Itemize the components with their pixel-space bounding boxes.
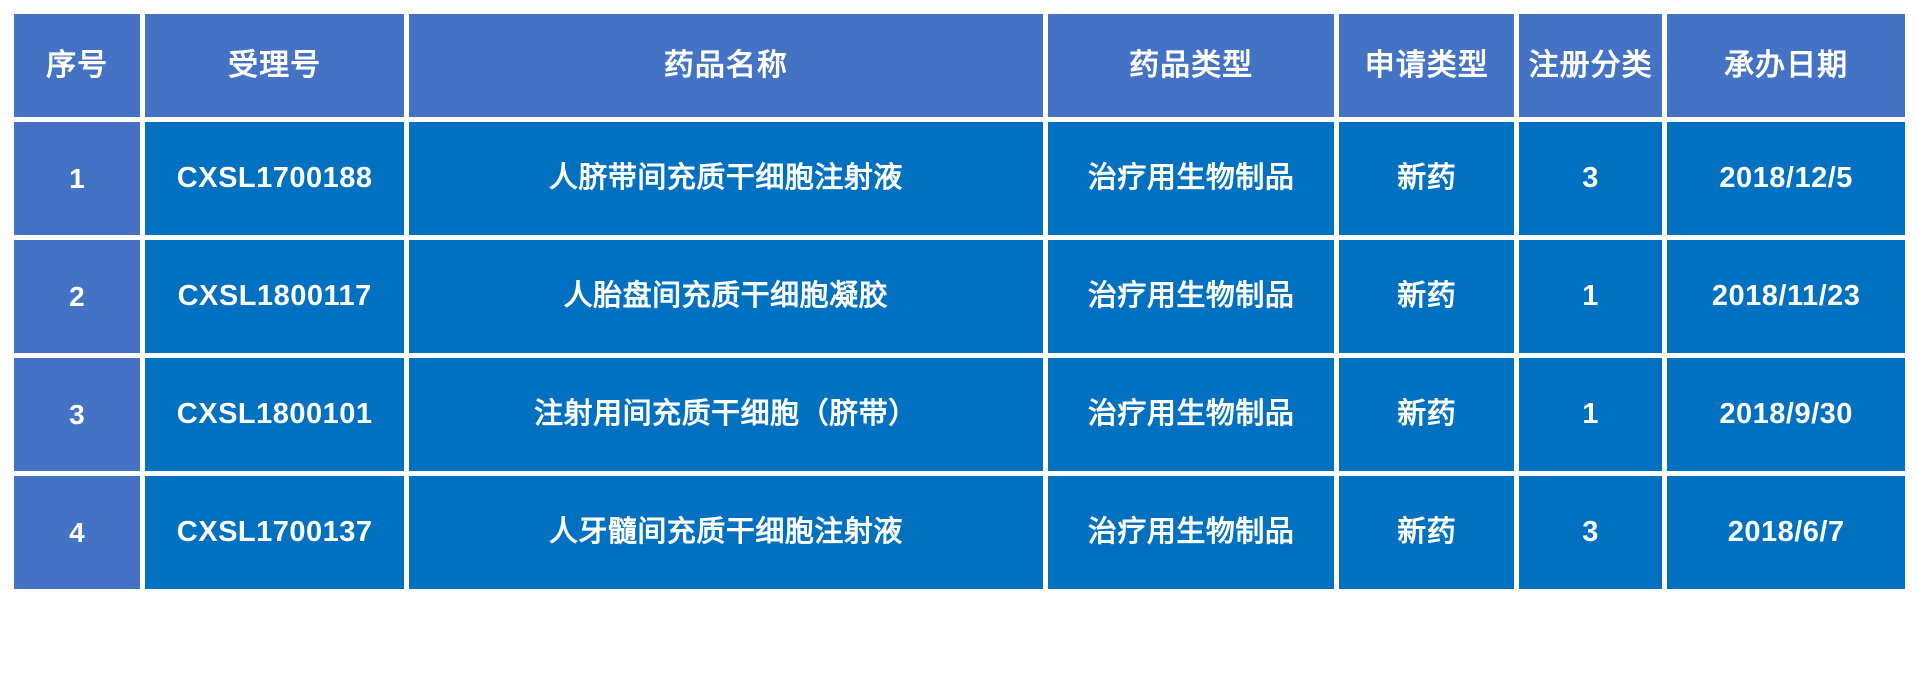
column-header-index: 序号 (14, 14, 140, 117)
column-header-name: 药品名称 (409, 14, 1043, 117)
column-header-type: 药品类型 (1048, 14, 1335, 117)
cell-code: CXSL1800117 (145, 240, 404, 353)
cell-code: CXSL1700137 (145, 476, 404, 589)
table-row: 1 CXSL1700188 人脐带间充质干细胞注射液 治疗用生物制品 新药 3 … (14, 122, 1905, 235)
cell-index: 1 (14, 122, 140, 235)
drug-registration-table: 序号 受理号 药品名称 药品类型 申请类型 注册分类 承办日期 1 CXSL17… (9, 9, 1910, 594)
column-header-apptype: 申请类型 (1339, 14, 1513, 117)
table-header-row: 序号 受理号 药品名称 药品类型 申请类型 注册分类 承办日期 (14, 14, 1905, 117)
cell-name: 人胎盘间充质干细胞凝胶 (409, 240, 1043, 353)
column-header-date: 承办日期 (1667, 14, 1905, 117)
table-row: 3 CXSL1800101 注射用间充质干细胞（脐带） 治疗用生物制品 新药 1… (14, 358, 1905, 471)
table-header: 序号 受理号 药品名称 药品类型 申请类型 注册分类 承办日期 (14, 14, 1905, 117)
column-header-code: 受理号 (145, 14, 404, 117)
column-header-reg: 注册分类 (1519, 14, 1662, 117)
cell-name: 注射用间充质干细胞（脐带） (409, 358, 1043, 471)
cell-reg: 3 (1519, 476, 1662, 589)
cell-reg: 1 (1519, 240, 1662, 353)
cell-date: 2018/11/23 (1667, 240, 1905, 353)
cell-type: 治疗用生物制品 (1048, 476, 1335, 589)
cell-code: CXSL1700188 (145, 122, 404, 235)
cell-apptype: 新药 (1339, 240, 1513, 353)
cell-date: 2018/6/7 (1667, 476, 1905, 589)
cell-index: 4 (14, 476, 140, 589)
drug-registration-table-container: 序号 受理号 药品名称 药品类型 申请类型 注册分类 承办日期 1 CXSL17… (14, 14, 1905, 675)
cell-type: 治疗用生物制品 (1048, 122, 1335, 235)
cell-code: CXSL1800101 (145, 358, 404, 471)
cell-reg: 3 (1519, 122, 1662, 235)
table-row: 2 CXSL1800117 人胎盘间充质干细胞凝胶 治疗用生物制品 新药 1 2… (14, 240, 1905, 353)
table-body: 1 CXSL1700188 人脐带间充质干细胞注射液 治疗用生物制品 新药 3 … (14, 122, 1905, 589)
cell-date: 2018/9/30 (1667, 358, 1905, 471)
cell-type: 治疗用生物制品 (1048, 358, 1335, 471)
cell-apptype: 新药 (1339, 358, 1513, 471)
cell-type: 治疗用生物制品 (1048, 240, 1335, 353)
cell-name: 人脐带间充质干细胞注射液 (409, 122, 1043, 235)
cell-name: 人牙髓间充质干细胞注射液 (409, 476, 1043, 589)
cell-index: 2 (14, 240, 140, 353)
cell-reg: 1 (1519, 358, 1662, 471)
cell-index: 3 (14, 358, 140, 471)
cell-apptype: 新药 (1339, 122, 1513, 235)
table-row: 4 CXSL1700137 人牙髓间充质干细胞注射液 治疗用生物制品 新药 3 … (14, 476, 1905, 589)
cell-apptype: 新药 (1339, 476, 1513, 589)
cell-date: 2018/12/5 (1667, 122, 1905, 235)
